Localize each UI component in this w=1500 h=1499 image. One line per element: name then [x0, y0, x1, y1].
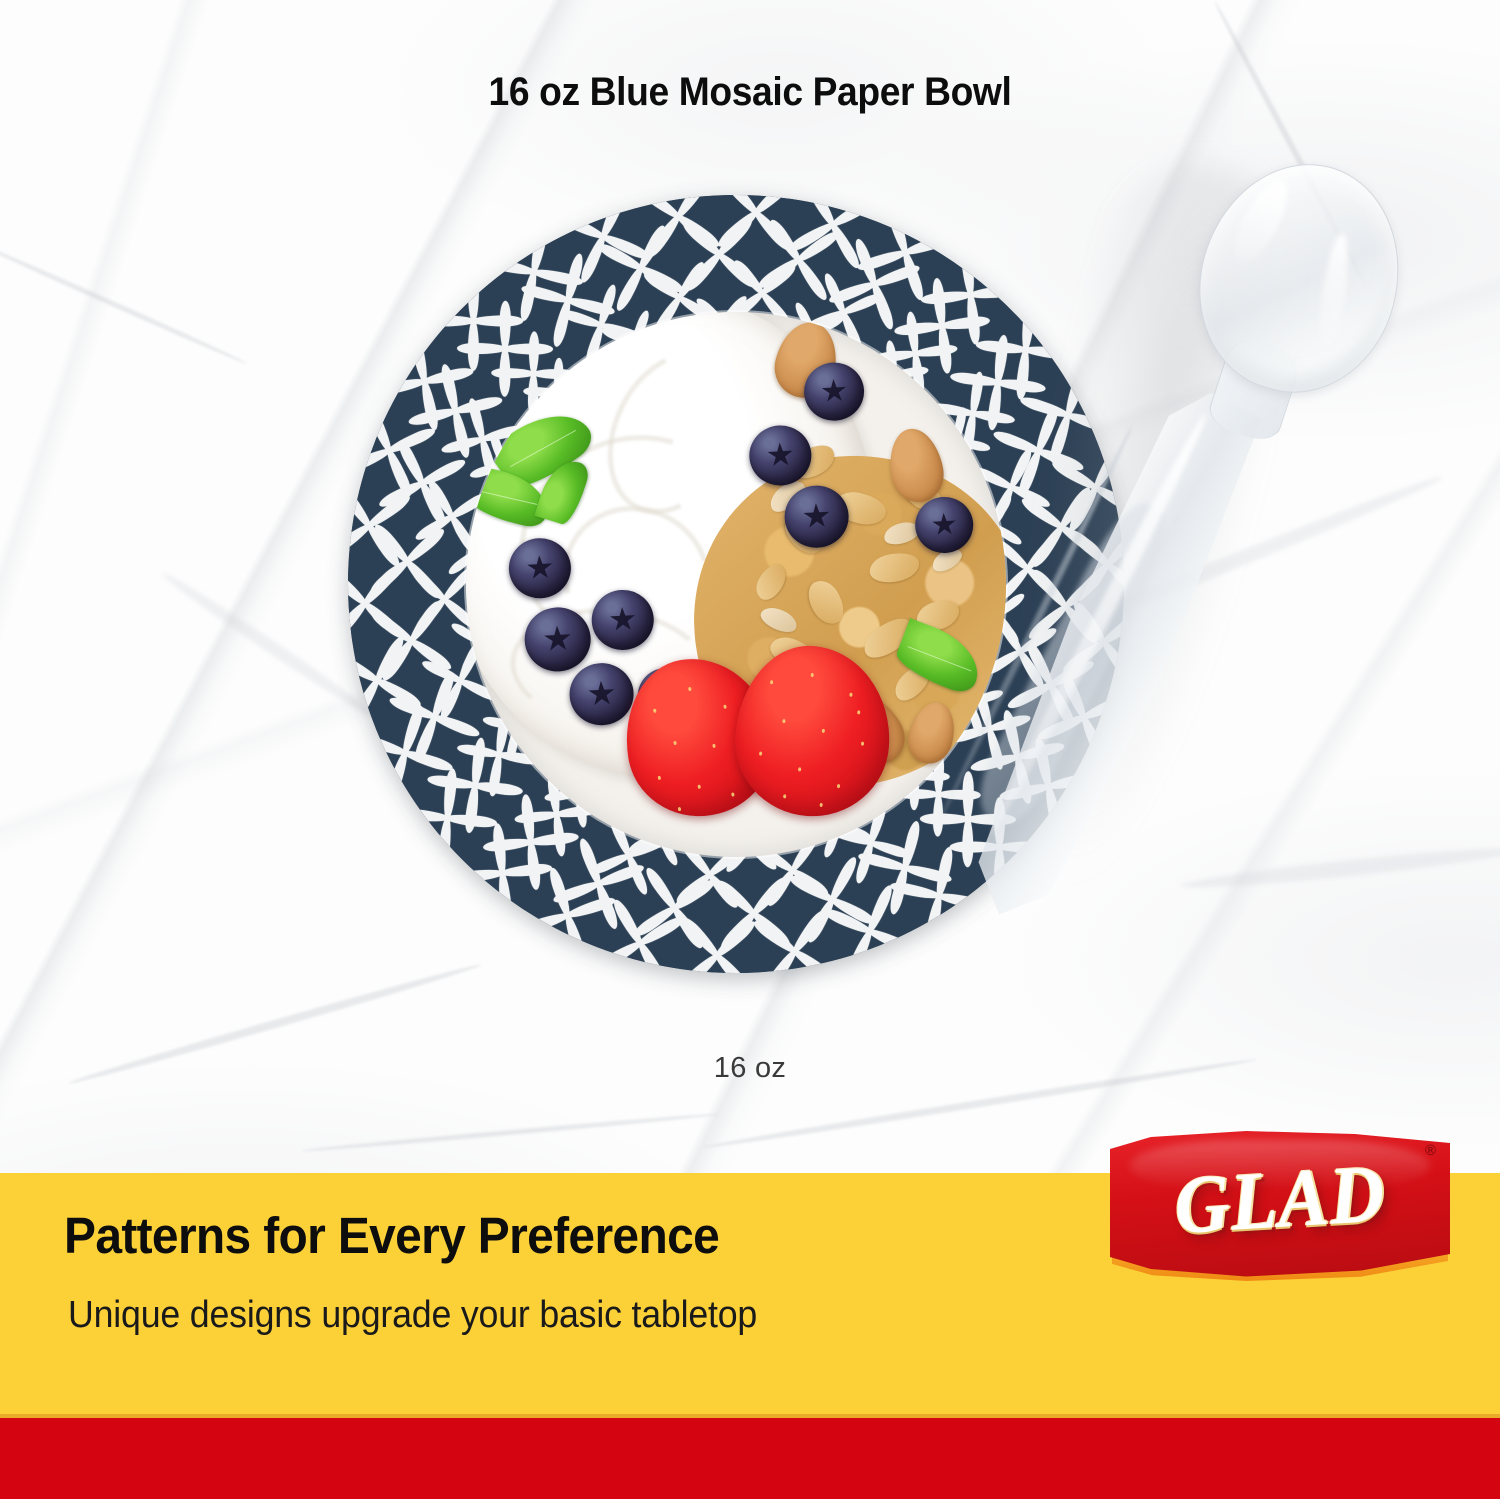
- mosaic-petal: [986, 380, 1003, 431]
- mosaic-petal: [748, 908, 793, 950]
- mosaic-petal: [561, 912, 588, 965]
- mosaic-petal: [613, 264, 646, 313]
- registered-mark-icon: ®: [1425, 1142, 1437, 1160]
- mosaic-petal: [423, 315, 475, 326]
- mosaic-petal: [341, 445, 393, 476]
- mosaic-petal: [789, 946, 838, 985]
- mosaic-petal: [959, 245, 975, 298]
- mosaic-petal: [1014, 347, 1030, 400]
- mosaic-petal: [401, 747, 454, 774]
- banner-subhead: Unique designs upgrade your basic tablet…: [68, 1294, 757, 1337]
- mosaic-petal: [555, 211, 607, 242]
- mosaic-petal: [347, 676, 383, 727]
- mosaic-petal: [893, 320, 944, 337]
- mosaic-petal: [931, 278, 948, 329]
- mosaic-petal: [412, 595, 449, 634]
- mosaic-petal: [525, 840, 542, 891]
- size-caption: 16 oz: [0, 1052, 1500, 1085]
- mosaic-petal: [430, 711, 481, 739]
- mosaic-petal: [482, 836, 533, 853]
- mosaic-petal: [499, 301, 510, 351]
- mosaic-petal: [452, 867, 505, 883]
- page-title: 16 oz Blue Mosaic Paper Bowl: [53, 70, 1448, 115]
- mosaic-petal: [467, 271, 478, 323]
- mosaic-petal: [384, 749, 411, 802]
- mosaic-petal: [397, 807, 450, 823]
- mosaic-petal: [471, 315, 523, 326]
- mosaic-petal: [865, 925, 917, 956]
- mosaic-petal: [884, 203, 911, 256]
- banner-headline: Patterns for Every Preference: [64, 1206, 719, 1265]
- brand-wordmark: GLAD: [1105, 1112, 1454, 1294]
- mosaic-petal: [496, 870, 512, 923]
- mosaic-petal: [436, 815, 452, 868]
- mosaic-petal: [967, 284, 1020, 300]
- mosaic-petal: [483, 256, 536, 278]
- mosaic-petal: [456, 343, 506, 354]
- mosaic-petal: [514, 809, 559, 824]
- mosaic-petal: [499, 862, 552, 878]
- mosaic-petal: [920, 289, 973, 305]
- product-infographic: 16 oz Blue Mosaic Paper Bowl: [0, 0, 1500, 1499]
- mosaic-petal: [679, 218, 724, 260]
- mosaic-petal: [374, 376, 427, 398]
- red-footer-band: [0, 1418, 1500, 1499]
- mosaic-petal: [1019, 300, 1035, 353]
- mosaic-petal: [939, 315, 990, 332]
- glad-logo: GLAD ®: [1110, 1128, 1450, 1278]
